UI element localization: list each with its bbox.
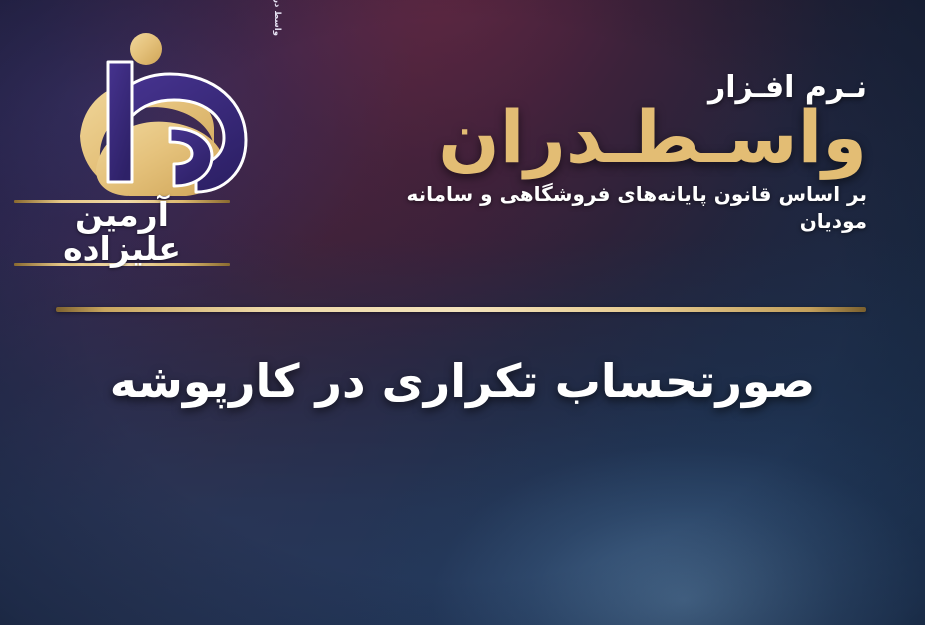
author-name: آرمین علیزاده <box>14 197 230 268</box>
vaset-daran-logo-icon <box>74 24 264 210</box>
title-slide: واسط دران فناوری اطلاعات آرمین علیزاده ن… <box>0 0 925 625</box>
brand-title-stack: نـرم افـزار واسـطـدران بر اساس قانون پای… <box>347 72 867 235</box>
author-name-plate: آرمین علیزاده <box>14 200 230 266</box>
brand-name: واسـطـدران <box>347 100 867 175</box>
gold-divider <box>56 307 866 312</box>
brand-tagline: بر اساس قانون پایانه‌های فروشگاهی و ساما… <box>347 181 867 235</box>
logo-side-text: واسط دران فناوری اطلاعات <box>218 0 282 36</box>
slide-headline: صورتحساب تکراری در کارپوشه <box>0 352 925 412</box>
